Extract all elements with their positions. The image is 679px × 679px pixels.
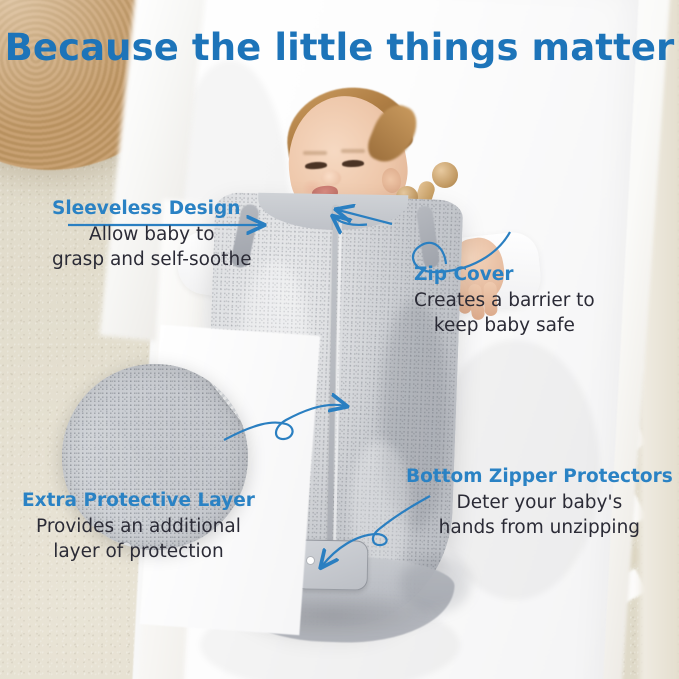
callout-title: Bottom Zipper Protectors xyxy=(406,466,673,489)
callout-body-line2: keep baby safe xyxy=(414,315,595,337)
callout-extra-protective-layer: Extra Protective Layer Provides an addit… xyxy=(22,490,255,563)
zipper-protector-snap xyxy=(306,556,315,565)
callout-body-line2: hands from unzipping xyxy=(406,517,673,539)
baby-eyebrow-right xyxy=(341,149,365,153)
callout-sleeveless-design: Sleeveless Design Allow baby to grasp an… xyxy=(52,198,252,271)
product-feature-infographic: Because the little things matter Sleevel… xyxy=(0,0,679,679)
callout-bottom-zipper-protectors: Bottom Zipper Protectors Deter your baby… xyxy=(406,466,673,539)
page-title: Because the little things matter xyxy=(0,26,679,69)
baby-eyebrow-left xyxy=(303,151,327,155)
callout-body-line1: Creates a barrier to xyxy=(414,290,595,312)
callout-zip-cover: Zip Cover Creates a barrier to keep baby… xyxy=(414,264,595,337)
callout-body-line1: Deter your baby's xyxy=(406,492,673,514)
wooden-toy-bead xyxy=(432,162,458,188)
callout-title: Zip Cover xyxy=(414,264,595,287)
callout-body-line2: layer of protection xyxy=(22,541,255,563)
callout-body-line2: grasp and self-soothe xyxy=(52,249,252,271)
callout-title: Extra Protective Layer xyxy=(22,490,255,513)
callout-body-line1: Allow baby to xyxy=(52,224,252,246)
callout-title: Sleeveless Design xyxy=(52,198,252,221)
callout-body-line1: Provides an additional xyxy=(22,516,255,538)
